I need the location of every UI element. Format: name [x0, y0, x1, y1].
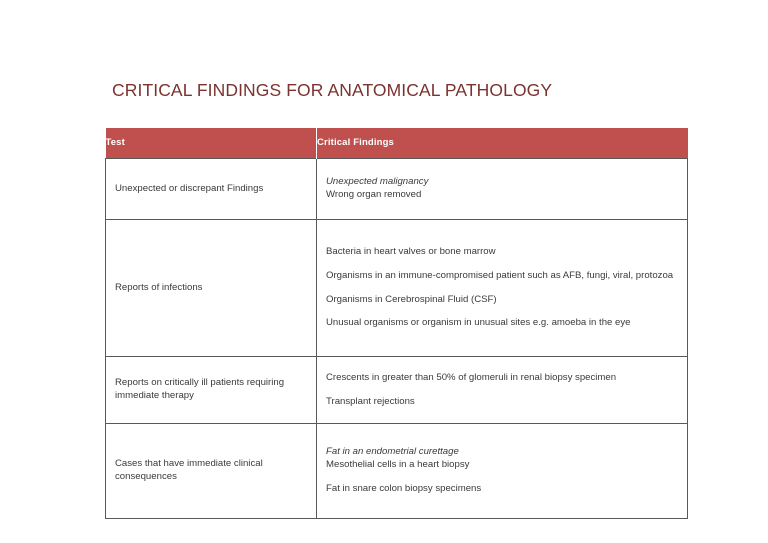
table-header: Test Critical Findings — [106, 128, 688, 159]
table-row: Reports of infections Bacteria in heart … — [106, 220, 688, 357]
cell-test: Cases that have immediate clinical conse… — [106, 424, 317, 519]
finding-line: Unusual organisms or organism in unusual… — [326, 317, 679, 330]
table-body: Unexpected or discrepant Findings Unexpe… — [106, 159, 688, 519]
column-header-critical-findings: Critical Findings — [317, 128, 688, 159]
cell-findings: Crescents in greater than 50% of glomeru… — [317, 357, 688, 424]
finding-line: Crescents in greater than 50% of glomeru… — [326, 372, 679, 385]
table-row: Reports on critically ill patients requi… — [106, 357, 688, 424]
finding-line: Fat in an endometrial curettage — [326, 446, 679, 459]
table-row: Cases that have immediate clinical conse… — [106, 424, 688, 519]
finding-line: Organisms in Cerebrospinal Fluid (CSF) — [326, 294, 679, 307]
table-header-row: Test Critical Findings — [106, 128, 688, 159]
cell-test: Unexpected or discrepant Findings — [106, 159, 317, 220]
critical-findings-table: Test Critical Findings Unexpected or dis… — [105, 128, 688, 519]
finding-line: Mesothelial cells in a heart biopsy — [326, 459, 679, 472]
column-header-test: Test — [106, 128, 317, 159]
page-title: CRITICAL FINDINGS FOR ANATOMICAL PATHOLO… — [112, 80, 552, 101]
cell-findings: Fat in an endometrial curettage Mesothel… — [317, 424, 688, 519]
finding-line: Unexpected malignancy — [326, 176, 679, 189]
finding-line: Fat in snare colon biopsy specimens — [326, 483, 679, 496]
cell-findings: Bacteria in heart valves or bone marrow … — [317, 220, 688, 357]
document-page: CRITICAL FINDINGS FOR ANATOMICAL PATHOLO… — [0, 0, 768, 543]
finding-line: Organisms in an immune-compromised patie… — [326, 270, 679, 283]
cell-findings: Unexpected malignancy Wrong organ remove… — [317, 159, 688, 220]
cell-test: Reports on critically ill patients requi… — [106, 357, 317, 424]
finding-line: Transplant rejections — [326, 396, 679, 409]
finding-line: Wrong organ removed — [326, 189, 679, 202]
cell-test: Reports of infections — [106, 220, 317, 357]
finding-line: Bacteria in heart valves or bone marrow — [326, 246, 679, 259]
table-row: Unexpected or discrepant Findings Unexpe… — [106, 159, 688, 220]
